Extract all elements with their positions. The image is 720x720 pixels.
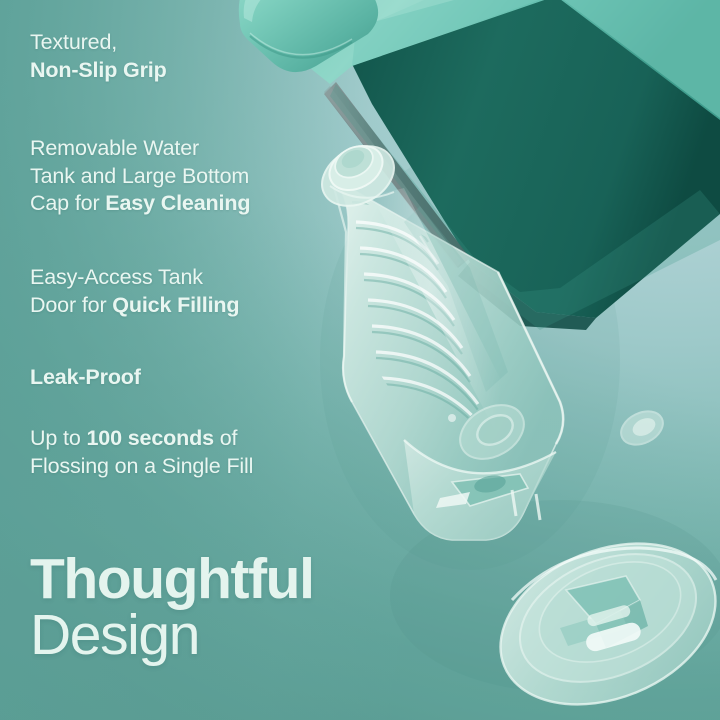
feature-line: Cap for — [30, 191, 105, 215]
feature-line: Textured, — [30, 30, 117, 54]
headline-line-1: Thoughtful — [30, 551, 314, 607]
headline: Thoughtful Design — [30, 551, 314, 663]
feature-line-bold: Easy Cleaning — [105, 191, 250, 215]
headline-line-2: Design — [30, 607, 314, 663]
feature-line: Door for — [30, 293, 112, 317]
feature-line: Flossing on a Single Fill — [30, 454, 253, 478]
feature-line-bold: Leak-Proof — [30, 365, 141, 389]
feature-easy-access-tank-door: Easy-Access Tank Door for Quick Filling — [30, 264, 239, 319]
feature-line: Removable Water — [30, 136, 199, 160]
feature-line: of — [214, 426, 237, 450]
feature-leak-proof: Leak-Proof — [30, 364, 141, 392]
feature-line: Easy-Access Tank — [30, 265, 203, 289]
feature-flossing-time: Up to 100 seconds of Flossing on a Singl… — [30, 425, 253, 480]
feature-line: Tank and Large Bottom — [30, 164, 249, 188]
feature-line: Up to — [30, 426, 86, 450]
feature-textured-non-slip-grip: Textured, Non-Slip Grip — [30, 29, 167, 84]
feature-line-bold: Quick Filling — [112, 293, 239, 317]
feature-line-bold: 100 seconds — [86, 426, 213, 450]
feature-line-bold: Non-Slip Grip — [30, 58, 167, 82]
product-feature-graphic: Textured, Non-Slip Grip Removable Water … — [0, 0, 720, 720]
feature-removable-water-tank: Removable Water Tank and Large Bottom Ca… — [30, 135, 250, 218]
